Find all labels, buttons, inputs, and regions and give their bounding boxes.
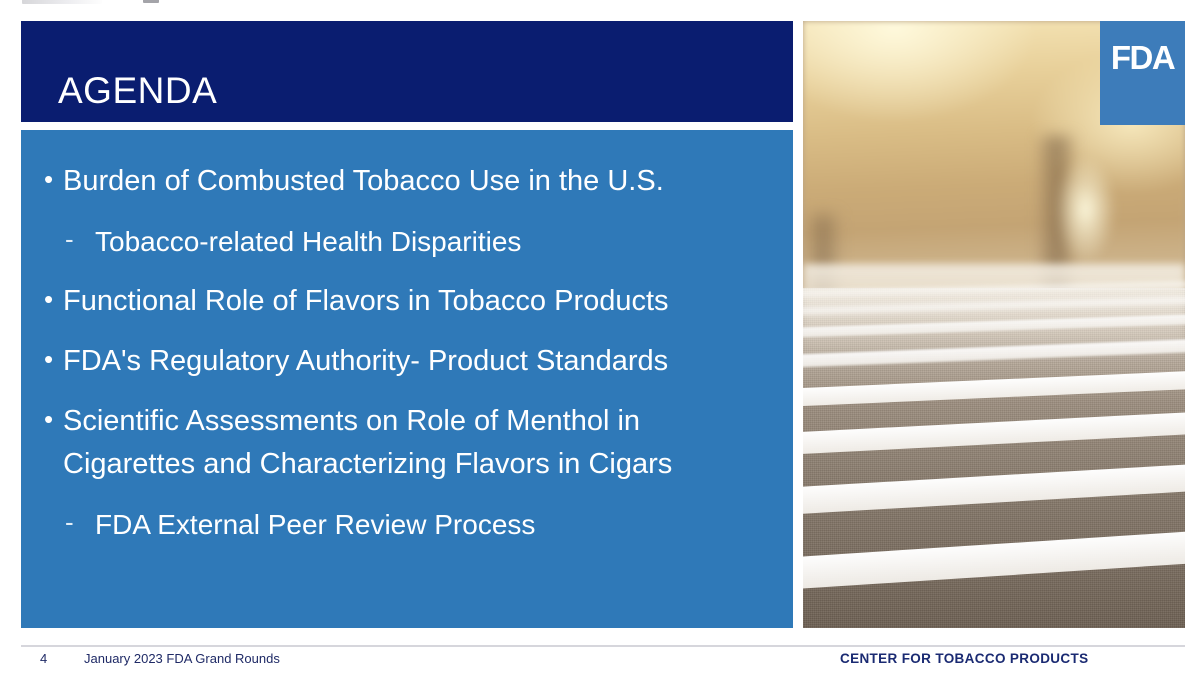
list-item: - FDA External Peer Review Process: [21, 503, 793, 546]
bullet-dot-icon: •: [35, 400, 63, 438]
fda-logo: FDA: [1100, 21, 1185, 125]
agenda-list: • Burden of Combusted Tobacco Use in the…: [21, 160, 793, 563]
list-item-label: Scientific Assessments on Role of Mentho…: [63, 400, 703, 486]
bullet-dash-icon: -: [65, 220, 95, 258]
presentation-slide: AGENDA • Burden of Combusted Tobacco Use…: [0, 0, 1200, 681]
bullet-dot-icon: •: [35, 160, 63, 198]
agenda-content-panel: • Burden of Combusted Tobacco Use in the…: [21, 130, 793, 628]
bullet-dash-icon: -: [65, 503, 95, 541]
list-item: • Burden of Combusted Tobacco Use in the…: [21, 160, 793, 203]
list-item-label: Burden of Combusted Tobacco Use in the U…: [63, 160, 664, 203]
bullet-dot-icon: •: [35, 340, 63, 378]
list-item-label: Tobacco-related Health Disparities: [95, 220, 521, 263]
cropped-toolbar-artifact-secondary: [143, 0, 159, 3]
list-item-label: FDA's Regulatory Authority- Product Stan…: [63, 340, 668, 383]
list-item-label: FDA External Peer Review Process: [95, 503, 535, 546]
footer-divider: [21, 645, 1185, 647]
list-item: • FDA's Regulatory Authority- Product St…: [21, 340, 793, 383]
cropped-toolbar-artifact: [22, 0, 102, 4]
page-title: AGENDA: [58, 71, 217, 111]
list-item: • Functional Role of Flavors in Tobacco …: [21, 280, 793, 323]
list-item: - Tobacco-related Health Disparities: [21, 220, 793, 263]
list-item-label: Functional Role of Flavors in Tobacco Pr…: [63, 280, 669, 323]
list-item: • Scientific Assessments on Role of Ment…: [21, 400, 793, 486]
slide-title-bar: AGENDA: [21, 21, 793, 122]
bullet-dot-icon: •: [35, 280, 63, 318]
slide-number: 4: [40, 651, 47, 666]
footer-note: January 2023 FDA Grand Rounds: [84, 651, 280, 666]
photo-sun-glow: [1055, 155, 1116, 264]
footer-brand: CENTER FOR TOBACCO PRODUCTS: [840, 651, 1088, 666]
fda-logo-text: FDA: [1111, 39, 1174, 77]
